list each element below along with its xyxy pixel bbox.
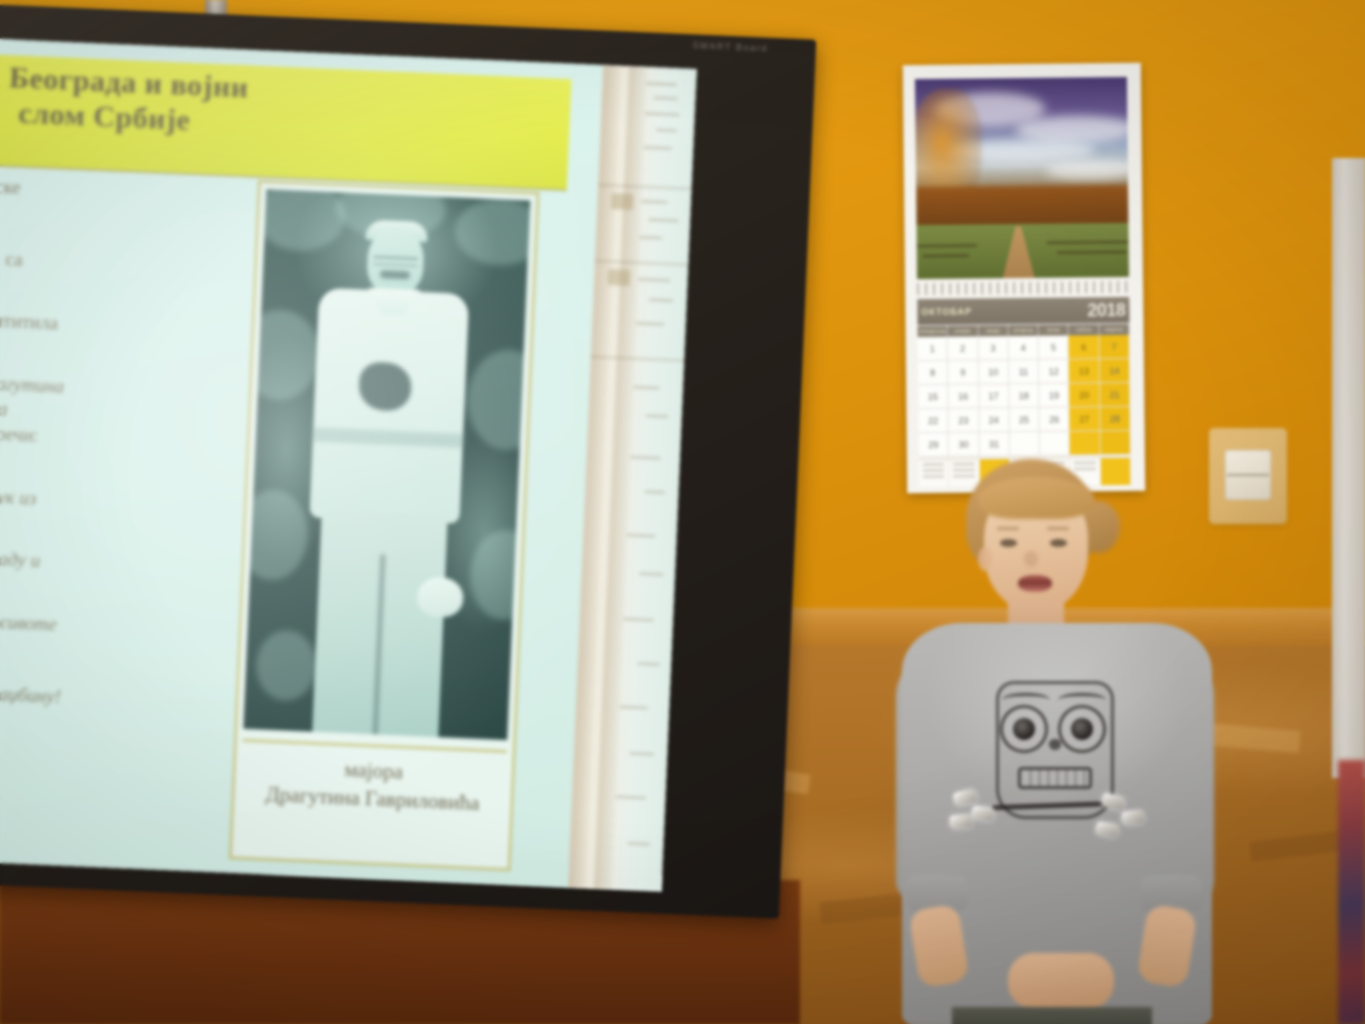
calendar-day-header: уторак xyxy=(948,325,978,336)
calendar-day-cell[interactable]: 29 xyxy=(919,433,950,457)
calendar-day-cell[interactable]: 6 xyxy=(1069,335,1100,359)
calendar-day-cell[interactable]: 19 xyxy=(1039,384,1070,408)
calendar-photo-autumn-landscape xyxy=(915,77,1129,279)
owl-beak xyxy=(1049,739,1061,750)
student-mouth-open-speaking xyxy=(1018,575,1052,592)
student-presenter xyxy=(890,455,1220,1024)
sweater-sequin xyxy=(950,814,973,829)
student-cuff-left xyxy=(906,875,968,911)
presentation-slide: на Београда и војни слом Србије арске во… xyxy=(0,39,627,889)
calendar-day-cell[interactable]: 3 xyxy=(978,336,1009,360)
classroom-scene: SMART Board на Београда и војни слом Срб… xyxy=(0,0,1365,1024)
student-cuff-right xyxy=(1140,875,1202,911)
student-eyebrow-left xyxy=(997,527,1019,530)
student-clasped-hands xyxy=(1008,953,1114,1009)
student-nose xyxy=(1024,551,1038,567)
calendar-day-cell[interactable]: 1 xyxy=(918,337,949,361)
calendar-day-cell[interactable]: 13 xyxy=(1069,359,1100,383)
owl-eye-left xyxy=(1000,705,1048,753)
door-frame-right xyxy=(1332,158,1365,778)
calendar-year-label: 2018 xyxy=(1087,299,1125,320)
calendar-day-cell[interactable]: 22 xyxy=(918,409,949,433)
student-eyebrow-right xyxy=(1047,527,1069,530)
owl-toothy-mouth xyxy=(1018,767,1092,789)
officer-held-hat xyxy=(416,576,464,618)
calendar-day-cell[interactable]: 21 xyxy=(1100,383,1131,407)
calendar-day-cell[interactable]: 30 xyxy=(949,432,980,456)
calendar-day-header: субота xyxy=(1069,324,1099,335)
student-trousers xyxy=(952,1007,1152,1024)
calendar-day-cell[interactable]: 25 xyxy=(1009,408,1040,432)
interactive-whiteboard[interactable]: SMART Board на Београда и војни слом Срб… xyxy=(0,4,816,919)
wall-light-switch[interactable] xyxy=(1209,428,1287,524)
student-ear xyxy=(978,547,992,571)
student-eye-left xyxy=(1000,539,1017,547)
calendar-day-cell[interactable]: 27 xyxy=(1070,407,1101,431)
calendar-day-cell[interactable]: 2 xyxy=(948,336,979,360)
calendar-day-cell[interactable]: 18 xyxy=(1009,384,1040,408)
calendar-spiral-binding xyxy=(917,281,1129,295)
calendar-day-cell[interactable]: 14 xyxy=(1100,359,1131,383)
calendar-day-cell[interactable]: 8 xyxy=(918,361,949,385)
photo-caption: мајора Драгутина Гавриловића xyxy=(234,750,512,818)
owl-eye-right xyxy=(1058,705,1106,753)
calendar-date-grid[interactable]: 1 2 3 4 5 6 7 8 9 10 11 12 13 14 15 16 1… xyxy=(918,335,1131,457)
calendar-day-header: понедељак xyxy=(917,326,947,337)
calendar-day-cell[interactable]: 17 xyxy=(979,384,1010,408)
projection-area[interactable]: на Београда и војни слом Србије арске во… xyxy=(0,39,697,892)
calendar-month-bar: ОКТОБАР 2018 xyxy=(917,297,1129,325)
slide-body-line: Штурма штитила xyxy=(0,308,246,345)
calendar-day-cell xyxy=(1009,432,1040,456)
calendar-day-header: недеља xyxy=(1099,324,1129,335)
officer-spectacles xyxy=(373,256,417,267)
calendar-day-header: среда xyxy=(978,325,1008,336)
officer-moustache xyxy=(380,270,410,279)
historical-officer-photo xyxy=(243,189,530,740)
calendar-day-cell[interactable]: 4 xyxy=(1008,336,1039,360)
calendar-day-cell[interactable]: 28 xyxy=(1100,407,1131,431)
student-hair-fringe xyxy=(978,477,1094,519)
calendar-day-header: четвртак xyxy=(1008,325,1038,336)
calendar-day-cell[interactable]: 24 xyxy=(979,408,1010,432)
slide-body-text: арске војске а ра 1915. г. са Штурма шти… xyxy=(0,174,252,744)
student-eye-right xyxy=(1050,539,1067,547)
sweater-sequin xyxy=(1121,810,1144,825)
calendar-day-header: петак xyxy=(1039,325,1069,336)
calendar-day-cell[interactable]: 5 xyxy=(1039,336,1070,360)
calendar-day-cell xyxy=(1070,431,1101,455)
slide-body-line: ра 1915. г. са xyxy=(0,245,248,282)
photo-caption-divider xyxy=(243,739,507,753)
slide-body-line: част Београду и xyxy=(0,546,236,583)
calendar-day-cell[interactable]: 15 xyxy=(918,385,949,409)
calendar-month-label: ОКТОБАР xyxy=(921,307,972,318)
calendar-day-cell[interactable]: 7 xyxy=(1099,335,1130,359)
calendar-day-cell xyxy=(1100,431,1131,455)
calendar-day-cell[interactable]: 10 xyxy=(978,360,1009,384)
switch-seam-line xyxy=(1227,474,1269,476)
calendar-day-cell[interactable]: 31 xyxy=(979,432,1010,456)
calendar-day-cell xyxy=(1040,432,1071,456)
slide-title-band: на Београда и војни слом Србије xyxy=(0,52,571,191)
calendar-day-cell[interactable]: 9 xyxy=(948,360,979,384)
calendar-day-cell[interactable]: 26 xyxy=(1040,408,1071,432)
owl-pupil-right xyxy=(1071,718,1093,740)
calendar-day-cell[interactable]: 16 xyxy=(948,384,979,408)
owl-pupil-left xyxy=(1013,718,1035,740)
slide-body-line: ла је наш лук из xyxy=(0,483,238,520)
calendar-day-cell[interactable]: 12 xyxy=(1039,360,1070,384)
wall-calendar[interactable]: ОКТОБАР 2018 понедељак уторак среда четв… xyxy=(903,63,1145,493)
sweater-owl-print xyxy=(996,681,1114,819)
calendar-day-cell[interactable]: 20 xyxy=(1070,383,1101,407)
slide-photo-frame: мајора Драгутина Гавриловића xyxy=(229,180,540,871)
calendar-day-cell[interactable]: 11 xyxy=(1009,360,1040,384)
calendar-day-cell[interactable]: 23 xyxy=(949,408,980,432)
partial-figure-in-doorway xyxy=(1338,760,1365,1024)
